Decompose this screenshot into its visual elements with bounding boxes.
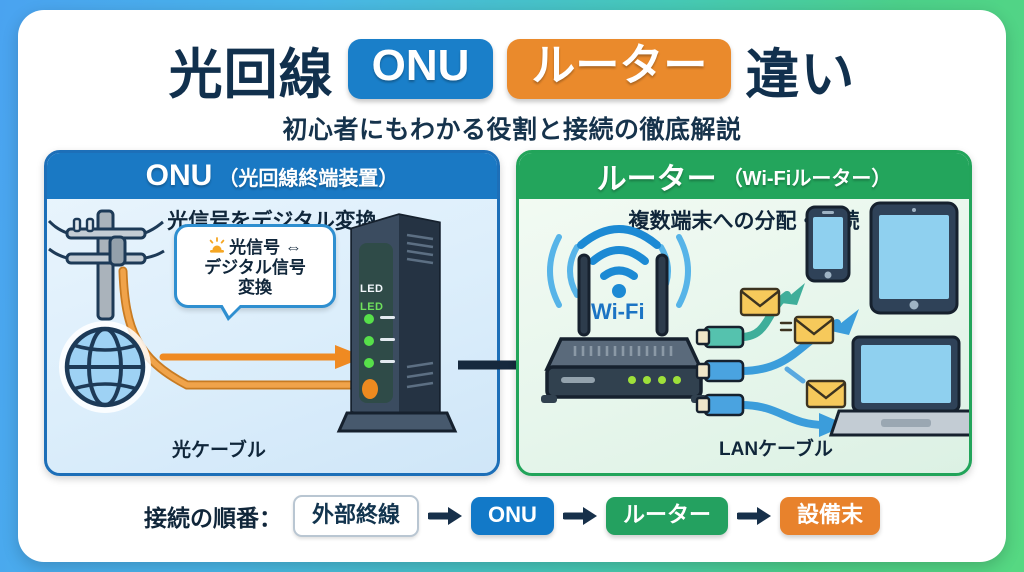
wifi-fan-icon (581, 229, 657, 276)
panel-onu: ONU （光回線終端装置） 光信号をデジタル変換 (44, 150, 500, 476)
flow-step-external-line[interactable]: 外部終線 (293, 495, 419, 537)
onu-led-label-top: LED (360, 283, 384, 295)
subtitle: 初心者にもわかる役割と接続の徹底解説 (18, 110, 1006, 146)
conversion-callout: 光信号 ⇔ デジタル信号 変換 (174, 224, 336, 308)
globe-icon (59, 321, 151, 413)
panel-router-header: ルーター （Wi-Fiルーター） (519, 153, 969, 199)
flow-step-equipment[interactable]: 設備末 (780, 497, 880, 535)
onu-scene: LED LED 光信号 ⇔ デジタル信号 変換 (47, 199, 497, 470)
tablet-icon (871, 203, 957, 313)
flow-arrow-1-icon (428, 505, 462, 527)
title-badge-router: ルーター (507, 39, 731, 99)
panel-router-subtitle: （Wi-Fiルーター） (723, 162, 892, 191)
flow-step-router[interactable]: ルーター (606, 497, 728, 535)
title-badge-onu: ONU (348, 39, 494, 99)
envelope-icon (741, 289, 845, 407)
connection-order-flow: 接続の順番： 外部終線 ONU ルーター 設備末 (18, 488, 1006, 544)
flow-arrow-3-icon (737, 505, 771, 527)
lan-plug-icon (697, 327, 743, 415)
utility-pole-icon (49, 211, 164, 319)
router-scene: Wi-Fi LANケーブル (519, 199, 969, 470)
fiber-cable-label: 光ケーブル (172, 435, 266, 462)
callout-text-2: デジタル信号 (185, 258, 325, 278)
flow-step-onu[interactable]: ONU (471, 497, 554, 535)
wifi-router-device (541, 255, 707, 403)
laptop-icon (831, 337, 969, 435)
onu-led-label-bottom: LED (360, 301, 384, 313)
panel-router-title: ルーター (597, 154, 717, 198)
callout-line-1: 光信号 ⇔ (185, 233, 325, 258)
wifi-label: Wi-Fi (591, 299, 645, 325)
title-row: 光回線 ONU ルーター 違い (18, 34, 1006, 104)
smartphone-icon (807, 207, 849, 281)
lan-cable-label: LANケーブル (719, 434, 833, 461)
flow-arrow-2-icon (563, 505, 597, 527)
title-word-hikari: 光回線 (169, 30, 334, 109)
flow-label: 接続の順番： (144, 499, 282, 533)
light-signal-icon (208, 237, 226, 255)
callout-text-3: 変換 (185, 278, 325, 298)
panel-onu-title: ONU (146, 159, 213, 193)
title-word-chigai: 違い (745, 30, 855, 109)
main-card: 光回線 ONU ルーター 違い 初心者にもわかる役割と接続の徹底解説 ONU （… (18, 10, 1006, 562)
panel-onu-header: ONU （光回線終端装置） (47, 153, 497, 199)
router-scene-graphics (519, 199, 969, 470)
panel-router: ルーター （Wi-Fiルーター） 複数端末への分配・接続 (516, 150, 972, 476)
onu-device (339, 215, 455, 431)
infographic-stage: 光回線 ONU ルーター 違い 初心者にもわかる役割と接続の徹底解説 ONU （… (0, 0, 1024, 572)
fiber-signal-arrow (163, 345, 365, 369)
panel-onu-subtitle: （光回線終端装置） (218, 162, 398, 191)
callout-text-1: 光信号 ⇔ (229, 233, 302, 258)
